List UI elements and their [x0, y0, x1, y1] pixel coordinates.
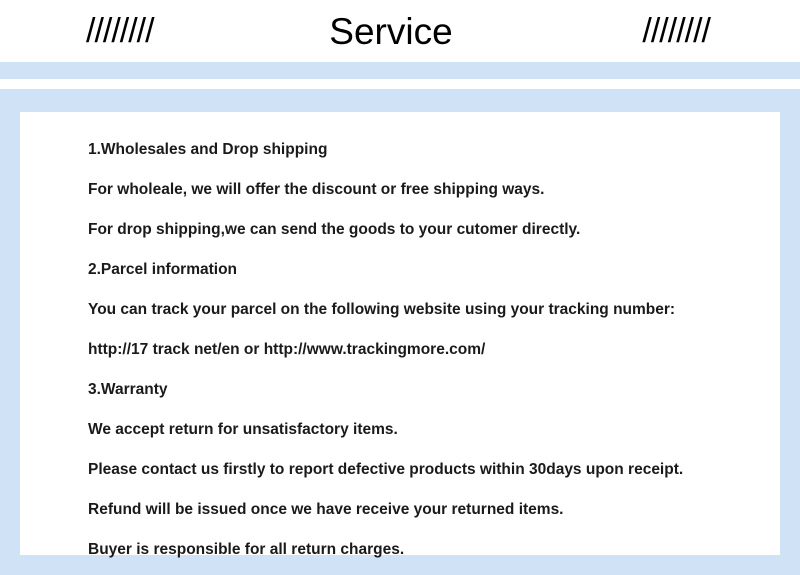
content-line: Buyer is responsible for all return char…	[88, 530, 780, 570]
header-divider-band	[0, 62, 800, 79]
banner-header: //////// Service ////////	[0, 0, 800, 62]
content-line: Please contact us firstly to report defe…	[88, 450, 780, 490]
content-line-tracking-urls: http://17 track net/en or http://www.tra…	[88, 330, 780, 370]
page-title: Service	[329, 13, 452, 50]
content-card: 1.Wholesales and Drop shipping For whole…	[20, 112, 780, 555]
content-line: 3.Warranty	[88, 370, 780, 410]
content-line: Refund will be issued once we have recei…	[88, 490, 780, 530]
service-info-banner: //////// Service //////// 1.Wholesales a…	[0, 0, 800, 575]
content-line: 2.Parcel information	[88, 250, 780, 290]
decorative-slashes-left: ////////	[86, 14, 154, 48]
divider-gap	[0, 79, 800, 89]
content-line: 1.Wholesales and Drop shipping	[88, 130, 780, 170]
decorative-slashes-right: ////////	[642, 14, 710, 48]
content-line: We accept return for unsatisfactory item…	[88, 410, 780, 450]
content-line: For wholeale, we will offer the discount…	[88, 170, 780, 210]
content-line: For drop shipping,we can send the goods …	[88, 210, 780, 250]
content-line: You can track your parcel on the followi…	[88, 290, 780, 330]
